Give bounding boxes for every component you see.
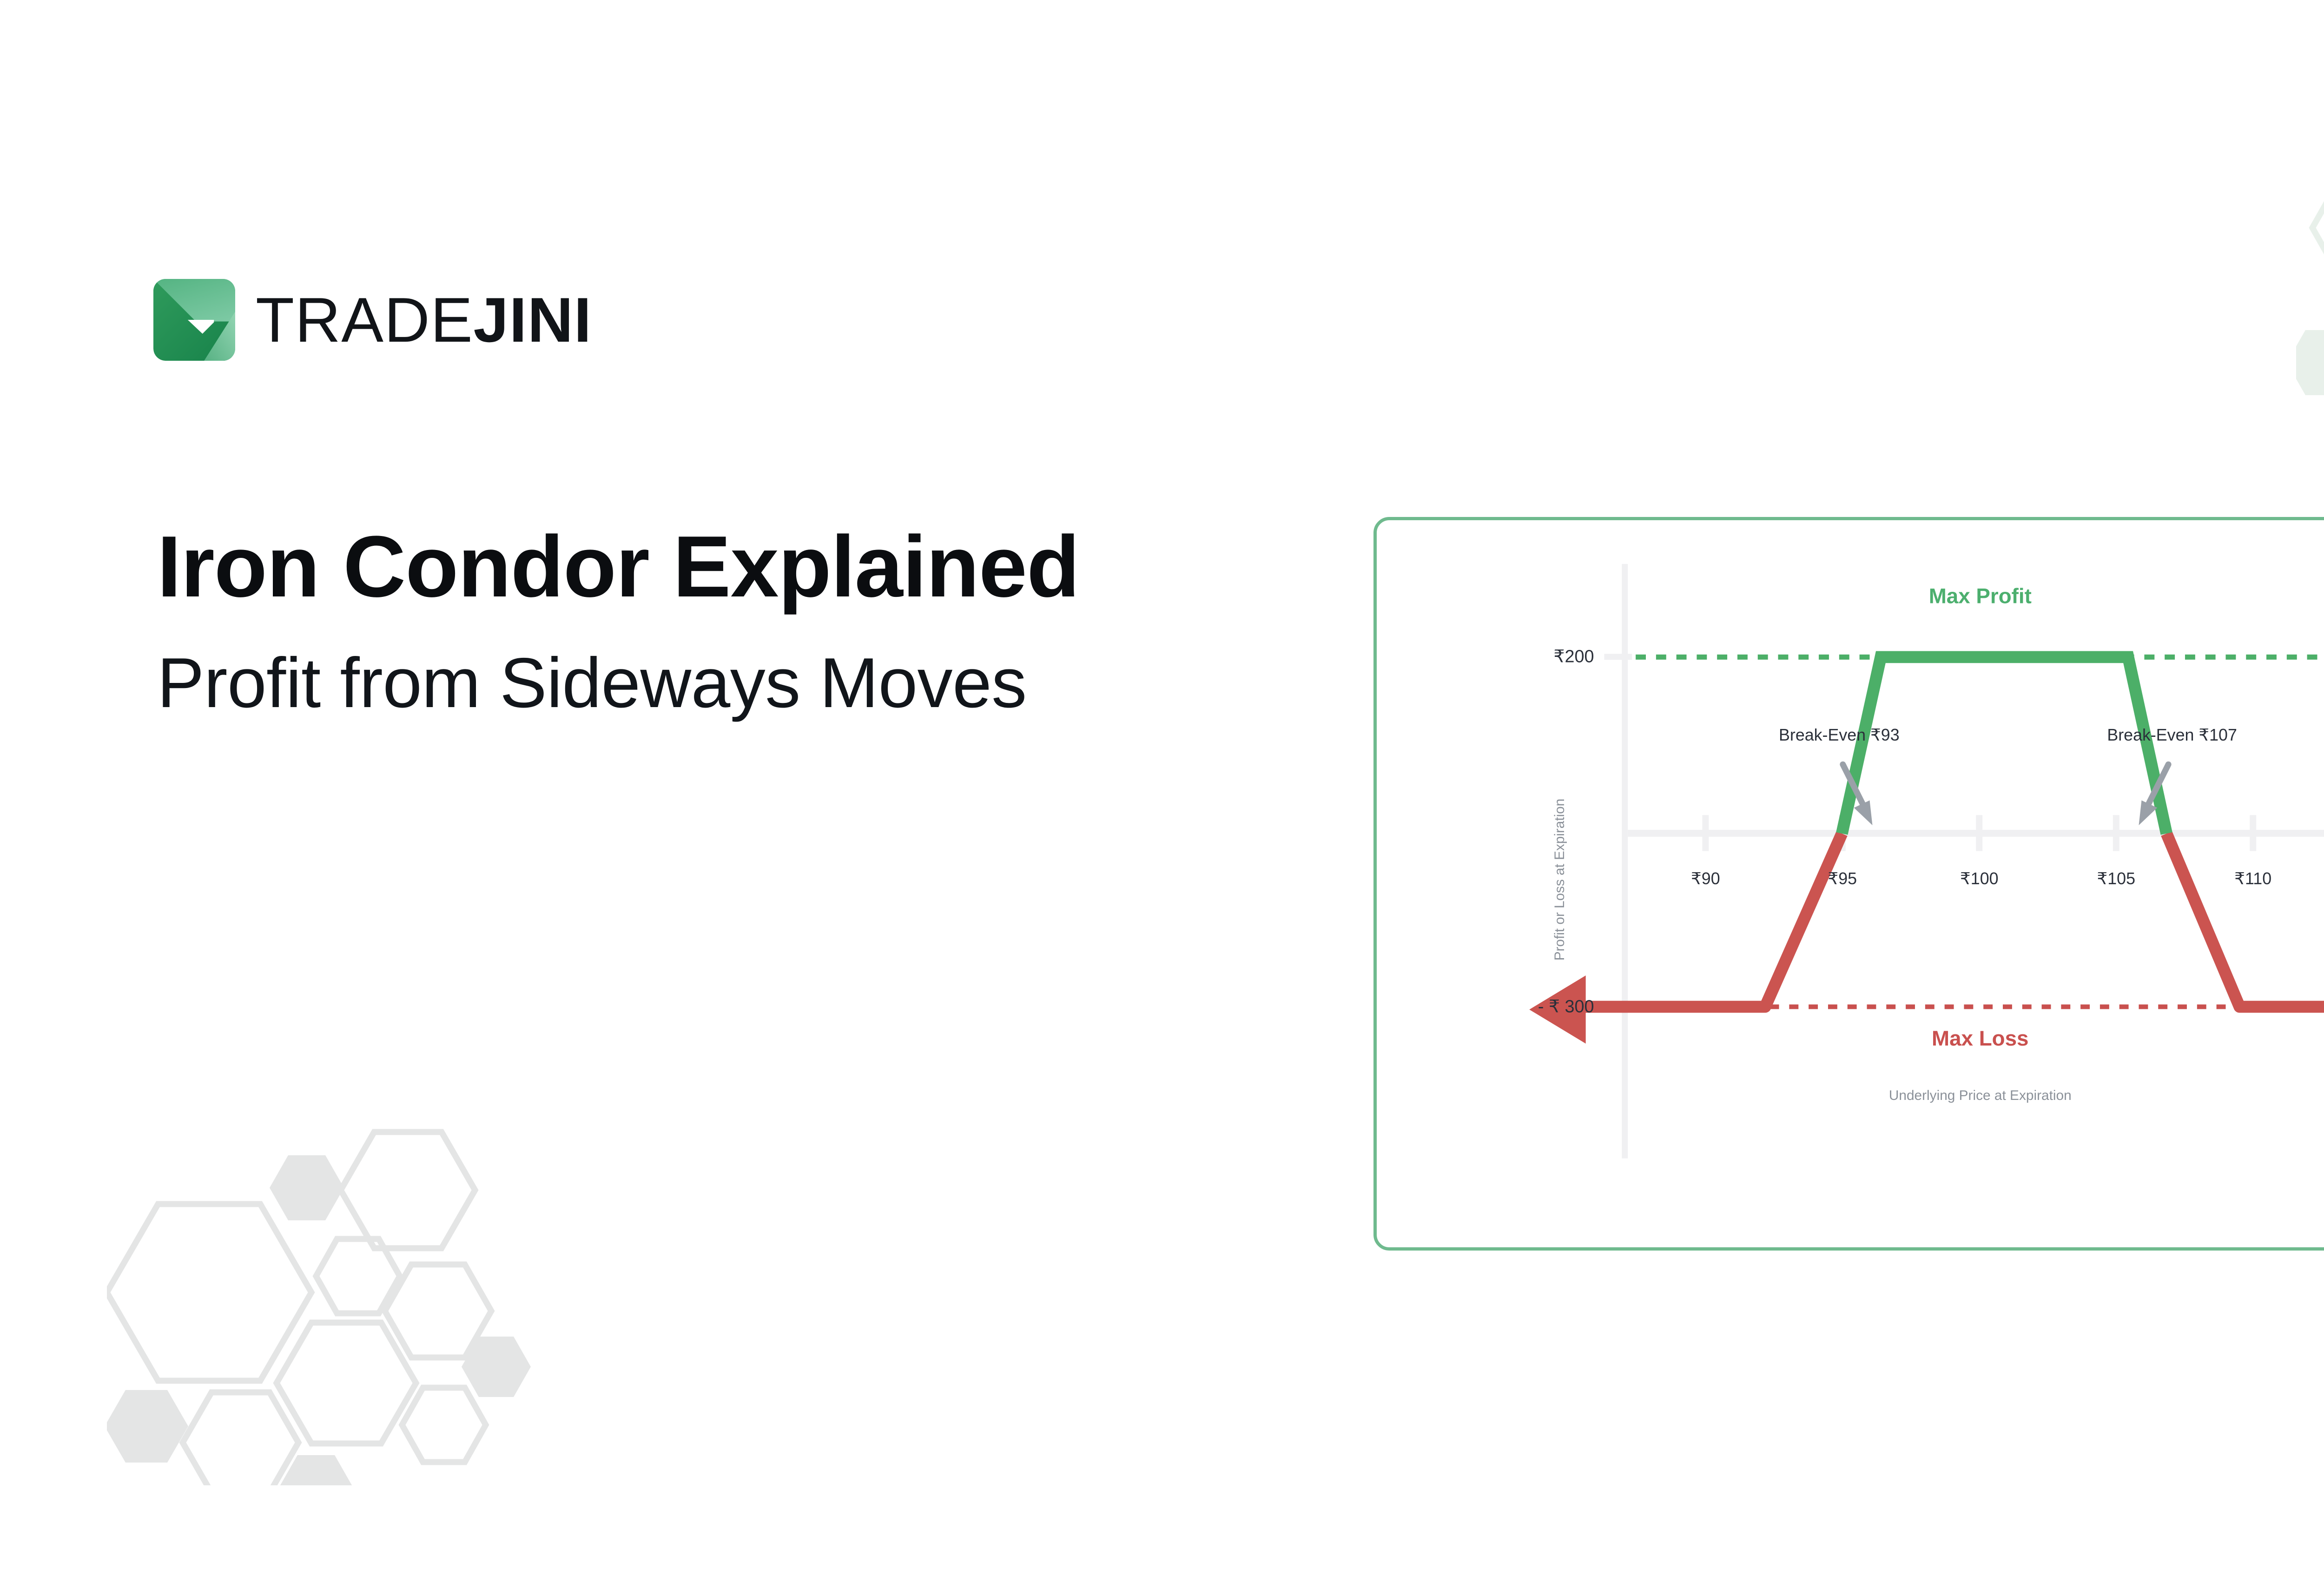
hexagon-outline	[183, 1392, 298, 1485]
x-tick-mark	[2250, 815, 2256, 851]
hexagon-filled	[270, 1155, 344, 1220]
payoff-chart: ₹200 - ₹ 300 ₹90 ₹95 ₹100 ₹105 ₹110 Max …	[1377, 520, 2324, 1247]
page-subtitle: Profit from Sideways Moves	[157, 638, 1133, 728]
payoff-chart-card: ₹200 - ₹ 300 ₹90 ₹95 ₹100 ₹105 ₹110 Max …	[1373, 517, 2324, 1251]
x-tick-mark	[2113, 815, 2119, 851]
y-tick-label-max-profit: ₹200	[1553, 646, 1594, 666]
break-even-low-label: Break-Even ₹93	[1779, 726, 1900, 744]
hexagon-filled	[279, 1455, 353, 1485]
slide-canvas: TRADEJINI Iron Condor Explained Profit f…	[0, 0, 2324, 1569]
y-axis-title: Profit or Loss at Expiration	[1552, 799, 1567, 960]
loss-line-left	[1566, 834, 1842, 1007]
y-axis-line	[1622, 564, 1628, 1159]
loss-line-right	[2166, 834, 2324, 1007]
brand-logo: TRADEJINI	[153, 279, 592, 361]
max-loss-label: Max Loss	[1932, 1026, 2028, 1050]
hexagon-outline	[385, 1264, 491, 1357]
hexagon-outline	[402, 1388, 486, 1462]
x-axis-title: Underlying Price at Expiration	[1889, 1088, 2072, 1103]
hexagon-outline	[2312, 158, 2324, 298]
y-tick-label-max-loss: - ₹ 300	[1538, 997, 1594, 1016]
x-tick-mark	[1976, 815, 1982, 851]
hexagon-filled	[107, 1390, 188, 1463]
brand-name-light: TRADE	[256, 285, 473, 355]
x-tick-label-100: ₹100	[1960, 869, 1999, 888]
x-tick-label-95: ₹95	[1828, 869, 1857, 888]
y-tick-mark	[1604, 654, 1632, 660]
hexagon-filled	[462, 1337, 531, 1397]
hexagon-outline	[107, 1204, 311, 1381]
copy-block: Iron Condor Explained Profit from Sidewa…	[157, 521, 1319, 728]
break-even-high-label: Break-Even ₹107	[2107, 726, 2237, 744]
x-tick-label-90: ₹90	[1691, 869, 1720, 888]
max-profit-label: Max Profit	[1929, 584, 2032, 608]
tradejini-logo-mark-icon	[153, 279, 235, 361]
hexagon-outline	[341, 1132, 475, 1248]
brand-wordmark: TRADEJINI	[256, 288, 592, 351]
x-tick-label-105: ₹105	[2097, 869, 2135, 888]
hexagon-cluster-bottom-left	[107, 1104, 553, 1485]
profit-line	[1842, 657, 2166, 834]
brand-name-bold: JINI	[473, 285, 592, 355]
hexagon-cluster-top-right	[2296, 42, 2324, 451]
x-axis-zero-line	[1628, 830, 2324, 837]
x-tick-label-110: ₹110	[2234, 869, 2271, 888]
page-title: Iron Condor Explained	[157, 521, 1319, 613]
hexagon-filled	[2296, 330, 2324, 395]
hexagon-outline	[316, 1239, 400, 1313]
hexagon-outline	[277, 1323, 416, 1443]
x-tick-mark	[1702, 815, 1709, 851]
